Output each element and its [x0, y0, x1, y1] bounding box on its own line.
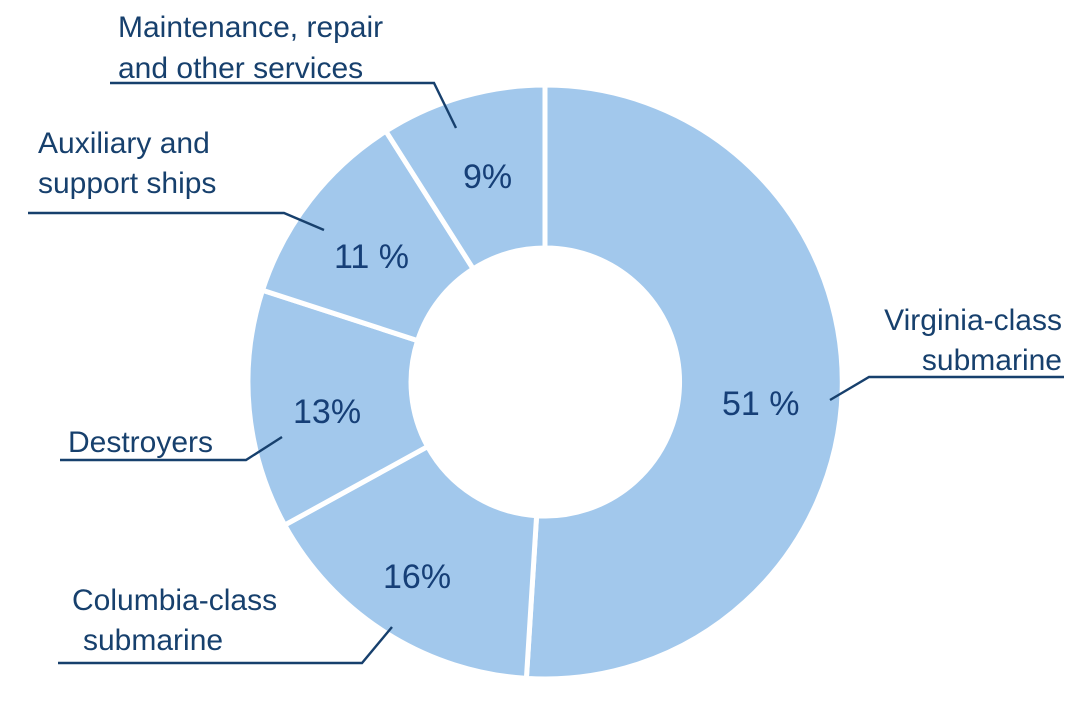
percent-label-columbia: 16% — [383, 558, 451, 596]
label-maintenance-line1: Maintenance, repair — [118, 11, 383, 44]
donut-chart-svg: Maintenance, repair and other services A… — [0, 0, 1092, 711]
donut-chart-figure: Maintenance, repair and other services A… — [0, 0, 1092, 711]
label-columbia-line1: Columbia-class — [72, 584, 277, 617]
label-virginia-line1: Virginia-class — [884, 304, 1062, 337]
percent-label-virginia: 51 % — [722, 385, 800, 423]
label-maintenance-line2: and other services — [118, 52, 363, 85]
label-virginia-line2: submarine — [922, 344, 1062, 377]
label-columbia-line2: submarine — [83, 624, 223, 657]
label-destroyers-line1: Destroyers — [68, 426, 213, 459]
label-auxiliary-line2: support ships — [38, 167, 216, 200]
label-auxiliary-line1: Auxiliary and — [38, 127, 210, 160]
donut-slices — [248, 85, 842, 679]
percent-label-maintenance: 9% — [463, 158, 512, 196]
slice-virginia-class-submarine[interactable] — [526, 85, 842, 679]
percent-label-auxiliary: 11 % — [334, 238, 409, 276]
leader-line-auxiliary — [28, 213, 324, 230]
leader-line-virginia — [830, 377, 1064, 400]
percent-label-destroyers: 13% — [293, 393, 361, 431]
